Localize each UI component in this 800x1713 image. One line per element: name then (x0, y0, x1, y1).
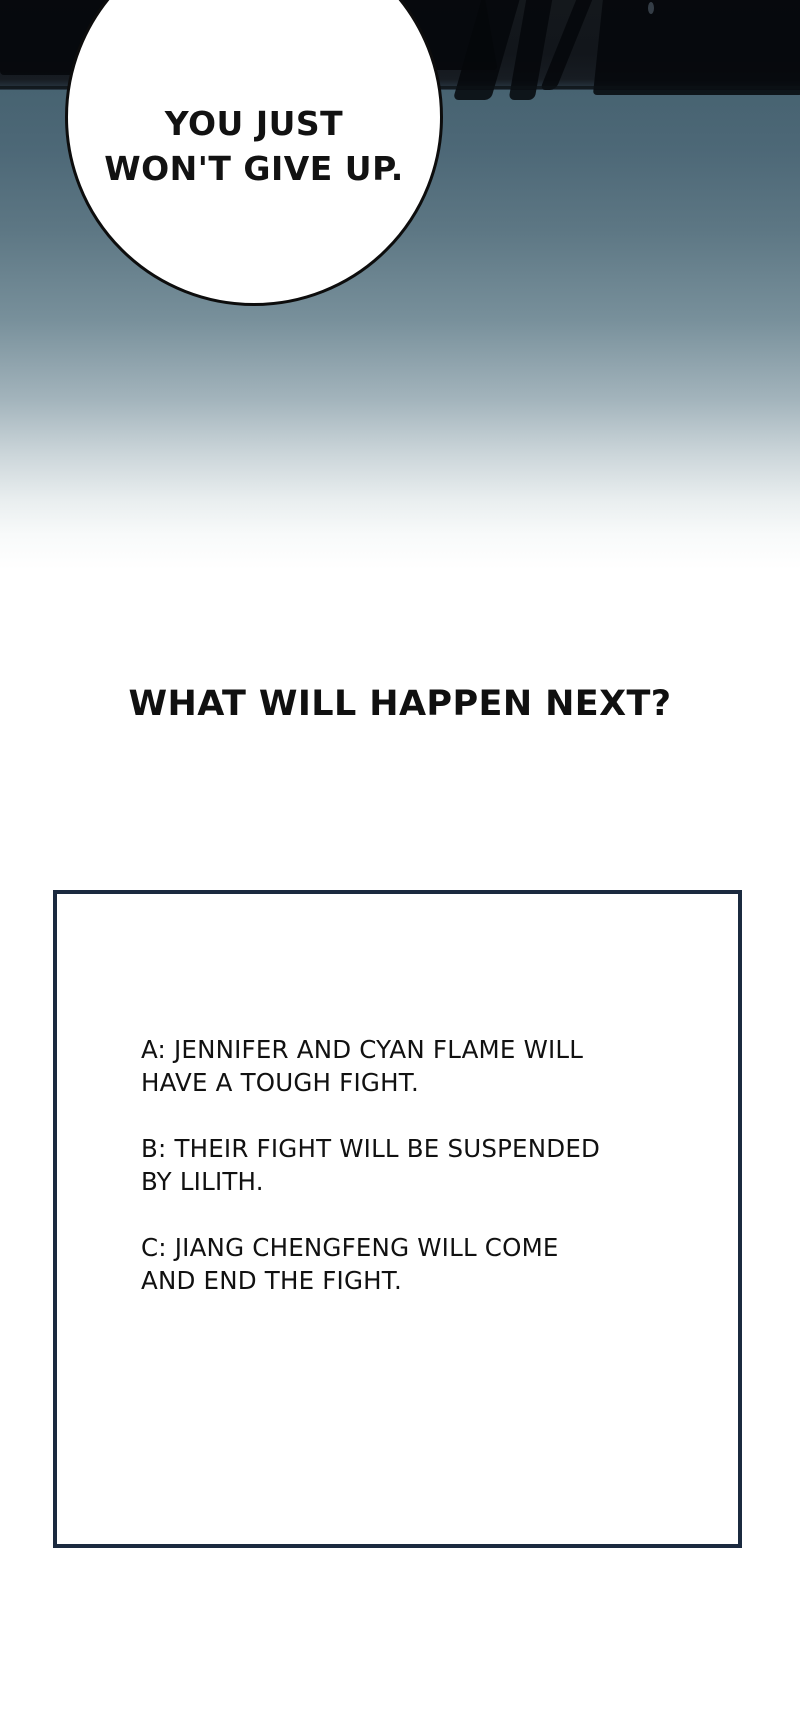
question-heading: WHAT WILL HAPPEN NEXT? (0, 684, 800, 724)
speech-bubble-text: YOU JUST WON'T GIVE UP. (89, 102, 419, 192)
option-b[interactable]: B: THEIR FIGHT WILL BE SUSPENDED BY LILI… (141, 1133, 661, 1198)
option-c[interactable]: C: JIANG CHENGFENG WILL COME AND END THE… (141, 1232, 661, 1297)
artwork-stage: YOU JUST WON'T GIVE UP. (0, 0, 800, 620)
silhouette-shape (593, 0, 800, 95)
option-a[interactable]: A: JENNIFER AND CYAN FLAME WILL HAVE A T… (141, 1034, 661, 1099)
webtoon-panel: YOU JUST WON'T GIVE UP. WHAT WILL HAPPEN… (0, 0, 800, 1713)
options-box: A: JENNIFER AND CYAN FLAME WILL HAVE A T… (53, 890, 742, 1548)
light-glint (648, 2, 654, 14)
options-list: A: JENNIFER AND CYAN FLAME WILL HAVE A T… (141, 1034, 661, 1297)
